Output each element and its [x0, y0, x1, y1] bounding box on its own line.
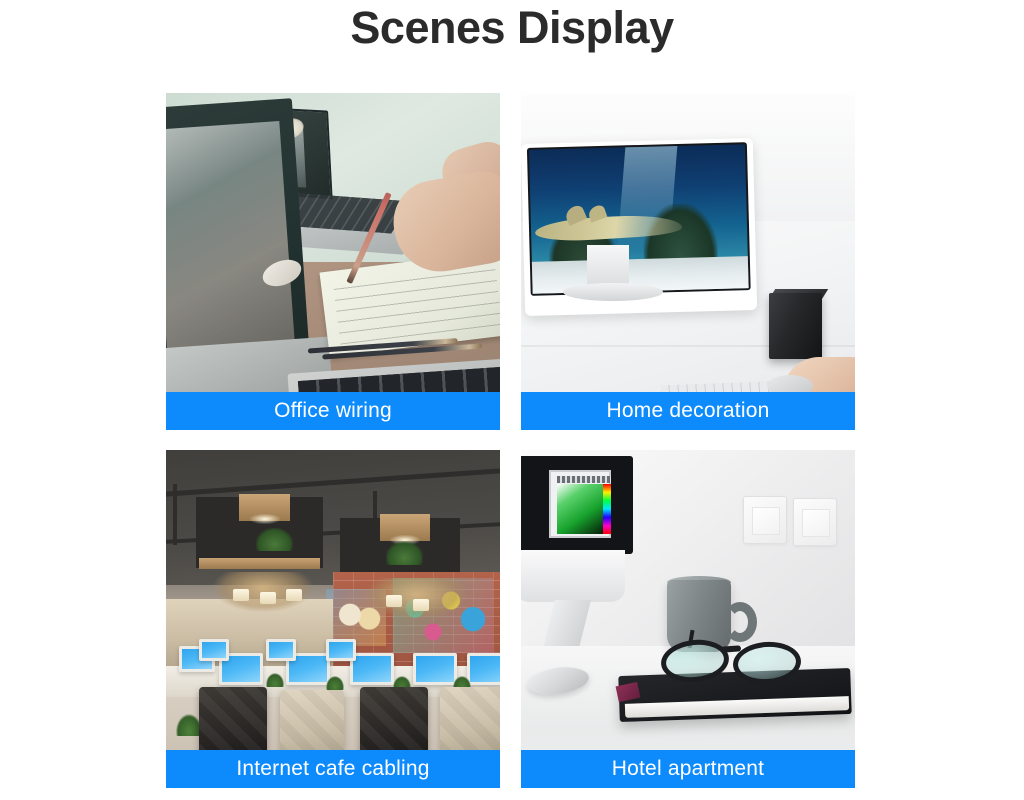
scene-card-office-wiring[interactable]: Office wiring: [166, 93, 500, 430]
ceiling-beam: [173, 484, 177, 545]
hanging-plant-icon: [386, 541, 423, 565]
scene-card-internet-cafe-cabling[interactable]: Internet cafe cabling: [166, 450, 500, 788]
aquarium-scene: [529, 144, 749, 294]
monitor-bezel: [527, 142, 751, 296]
office-wiring-photo: [166, 93, 500, 430]
lamp-shade-icon: [413, 599, 429, 611]
wall-switch-icon: [743, 496, 787, 544]
hotel-apartment-photo: [521, 450, 855, 788]
cafe-monitor-icon: [413, 653, 457, 685]
cafe-monitor-icon: [199, 639, 229, 661]
armchair-light-icon: [280, 690, 344, 756]
cafe-monitor-icon: [326, 639, 356, 661]
desk-plant-icon: [266, 673, 284, 687]
scene-grid: Office wiring: [166, 93, 855, 788]
imac-chin: [521, 550, 625, 602]
lamp-shade-icon: [386, 595, 402, 607]
monitor-foot: [563, 283, 663, 301]
hanging-plant-icon: [256, 528, 293, 552]
wall-switch-icon: [793, 498, 837, 546]
desk-plant-icon: [326, 676, 344, 690]
scene-caption-home-decoration: Home decoration: [521, 392, 855, 430]
switch-rocker: [752, 507, 780, 535]
imac-screen-icon: [521, 456, 633, 554]
armchair-dark-icon: [360, 687, 428, 757]
scene-caption-hotel-apartment: Hotel apartment: [521, 750, 855, 788]
scene-caption-internet-cafe-cabling: Internet cafe cabling: [166, 750, 500, 788]
scenes-display-page: Scenes Display: [0, 0, 1024, 800]
lamp-shade-icon: [233, 589, 249, 601]
internet-cafe-photo: [166, 450, 500, 788]
hue-slider-icon: [603, 484, 611, 534]
floor-plant-icon: [176, 714, 202, 736]
cafe-monitor-icon: [467, 653, 500, 685]
home-decoration-photo: [521, 93, 855, 430]
lamp-glow: [250, 514, 280, 524]
app-toolbar-icon: [557, 476, 611, 483]
armchair-dark-icon: [199, 687, 267, 757]
handwriting-lines: [333, 263, 500, 344]
lamp-shade-icon: [286, 589, 302, 601]
armchair-light-icon: [440, 687, 500, 753]
scene-card-hotel-apartment[interactable]: Hotel apartment: [521, 450, 855, 788]
cafe-monitor-icon: [350, 653, 394, 685]
lamp-shade-icon: [260, 592, 276, 604]
scene-caption-office-wiring: Office wiring: [166, 392, 500, 430]
page-title: Scenes Display: [0, 0, 1024, 56]
mug-handle: [723, 602, 757, 642]
scene-card-home-decoration[interactable]: Home decoration: [521, 93, 855, 430]
screen-reflection: [166, 121, 295, 359]
switch-rocker: [802, 509, 830, 537]
cafe-monitor-icon: [266, 639, 296, 661]
color-picker-icon: [557, 484, 603, 534]
black-adapter-box-icon: [769, 293, 822, 359]
wood-shelf: [199, 558, 319, 569]
